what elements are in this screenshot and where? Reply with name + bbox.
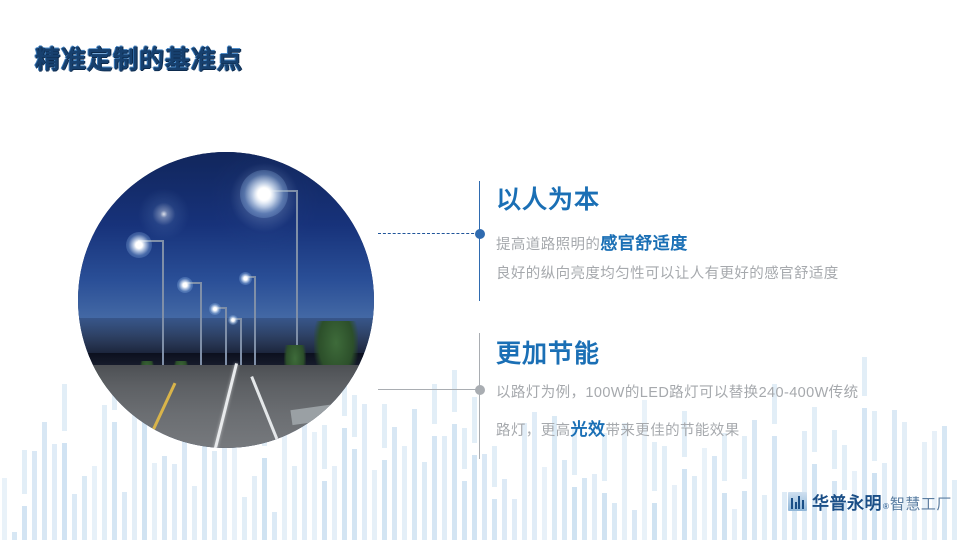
decorative-bar (162, 456, 167, 540)
decorative-bar (542, 467, 547, 540)
decorative-bar-segment (652, 442, 657, 491)
connector-dot-1 (475, 229, 485, 239)
decorative-bar-segment (492, 446, 497, 487)
decorative-bar-segment (432, 384, 437, 424)
decorative-bar (92, 466, 97, 540)
decorative-bar (612, 503, 617, 540)
decorative-bar (422, 462, 427, 540)
decorative-bar (72, 494, 77, 540)
vertical-rule-2 (479, 333, 480, 459)
decorative-bar (382, 460, 387, 540)
decorative-bar (272, 512, 277, 540)
block-2-line-2: 路灯，更高光效带来更佳的节能效果 (496, 410, 916, 449)
decorative-bar (782, 492, 787, 540)
decorative-bar (62, 443, 67, 540)
block-2-line-1: 以路灯为例，100W的LED路灯可以替换240-400W传统 (496, 377, 916, 410)
decorative-bar (322, 481, 327, 540)
decorative-bar (572, 487, 577, 540)
brand-logo: 华普永明 ® 智慧工厂 (788, 489, 952, 514)
street-lamp (254, 190, 298, 370)
feature-block-energy-saving: 更加节能 以路灯为例，100W的LED路灯可以替换240-400W传统 路灯，更… (496, 340, 916, 449)
block-1-line-1-prefix: 提高道路照明的 (496, 237, 600, 253)
decorative-bar (122, 492, 127, 540)
page-title: 精准定制的基准点 (35, 40, 243, 76)
decorative-bar (512, 499, 517, 540)
decorative-bar (712, 456, 717, 540)
decorative-bar (702, 448, 707, 540)
decorative-bar (602, 493, 607, 540)
decorative-bar-segment (462, 428, 467, 469)
trademark-symbol: ® (883, 502, 889, 511)
decorative-bar (82, 476, 87, 540)
decorative-bar (392, 427, 397, 540)
bars-logo-icon (788, 492, 807, 511)
decorative-bar (692, 476, 697, 540)
block-2-heading: 更加节能 (496, 340, 916, 369)
decorative-bar (492, 499, 497, 540)
connector-line-1 (378, 233, 479, 234)
decorative-bar-segment (842, 445, 847, 490)
decorative-bar (2, 478, 7, 540)
decorative-bar (42, 422, 47, 540)
decorative-bar (632, 510, 637, 540)
decorative-bar (262, 458, 267, 540)
street-lamp (242, 276, 256, 372)
decorative-bar (652, 503, 657, 540)
decorative-bar-segment (472, 397, 477, 443)
decorative-bar (662, 446, 667, 540)
slide-root: 精准定制的基准点 以人为本 提高道路照明的感官舒适度 良好的纵向亮度均匀性可以让… (0, 0, 960, 540)
decorative-bar (32, 451, 37, 540)
decorative-bar (12, 532, 17, 540)
block-2-line-2-suffix: 带来更佳的节能效果 (606, 423, 740, 439)
block-1-line-1-accent: 感官舒适度 (600, 234, 688, 253)
decorative-bar (352, 449, 357, 540)
decorative-bar (442, 436, 447, 540)
decorative-bar (52, 444, 57, 540)
decorative-bar (332, 466, 337, 540)
decorative-bar (172, 464, 177, 540)
decorative-bar (582, 478, 587, 540)
decorative-bar (242, 497, 247, 540)
decorative-bar (672, 485, 677, 540)
decorative-bar (192, 486, 197, 540)
decorative-bar (222, 439, 227, 540)
decorative-bar (252, 476, 257, 540)
block-1-line-2: 良好的纵向亮度均匀性可以让人有更好的感官舒适度 (496, 260, 916, 288)
decorative-bar (412, 409, 417, 540)
decorative-bar (372, 470, 377, 540)
block-1-line-1: 提高道路照明的感官舒适度 (496, 227, 916, 260)
decorative-bar (482, 454, 487, 540)
decorative-bar (472, 455, 477, 540)
decorative-bar (722, 493, 727, 540)
decorative-bar-segment (62, 384, 67, 431)
decorative-bar (432, 436, 437, 540)
decorative-bar (462, 481, 467, 540)
decorative-bar (932, 431, 937, 540)
decorative-bar (762, 495, 767, 540)
decorative-bar (682, 469, 687, 540)
decorative-bar (312, 432, 317, 540)
decorative-bar (402, 446, 407, 540)
decorative-bar (772, 436, 777, 540)
brand-name: 华普永明 (812, 489, 882, 514)
block-1-heading: 以人为本 (496, 186, 916, 215)
decorative-bar (182, 441, 187, 540)
decorative-bar (452, 424, 457, 540)
block-2-line-2-accent: 光效 (571, 420, 606, 439)
decorative-bar-segment (382, 404, 387, 448)
decorative-bar (942, 426, 947, 540)
brand-subtitle: 智慧工厂 (890, 493, 952, 514)
street-lamp (211, 307, 227, 373)
brand-logo-text: 华普永明 ® 智慧工厂 (812, 489, 952, 514)
vertical-rule-1 (479, 181, 480, 301)
decorative-bar (952, 480, 957, 540)
decorative-bar-segment (22, 450, 27, 494)
street-lamp (130, 240, 164, 370)
decorative-bar (22, 506, 27, 540)
decorative-bar-segment (452, 370, 457, 412)
decorative-bar (742, 491, 747, 540)
decorative-bar (152, 463, 157, 540)
decorative-bar (732, 509, 737, 540)
feature-block-human-centric: 以人为本 提高道路照明的感官舒适度 良好的纵向亮度均匀性可以让人有更好的感官舒适… (496, 186, 916, 288)
decorative-bar (292, 466, 297, 540)
decorative-bar (562, 460, 567, 540)
night-road-photo (78, 152, 374, 448)
connector-line-2 (378, 389, 479, 390)
decorative-bar (592, 474, 597, 540)
decorative-bar (502, 479, 507, 540)
connector-dot-2 (475, 385, 485, 395)
decorative-bar (212, 451, 217, 540)
block-2-line-2-prefix: 路灯，更高 (496, 423, 571, 439)
